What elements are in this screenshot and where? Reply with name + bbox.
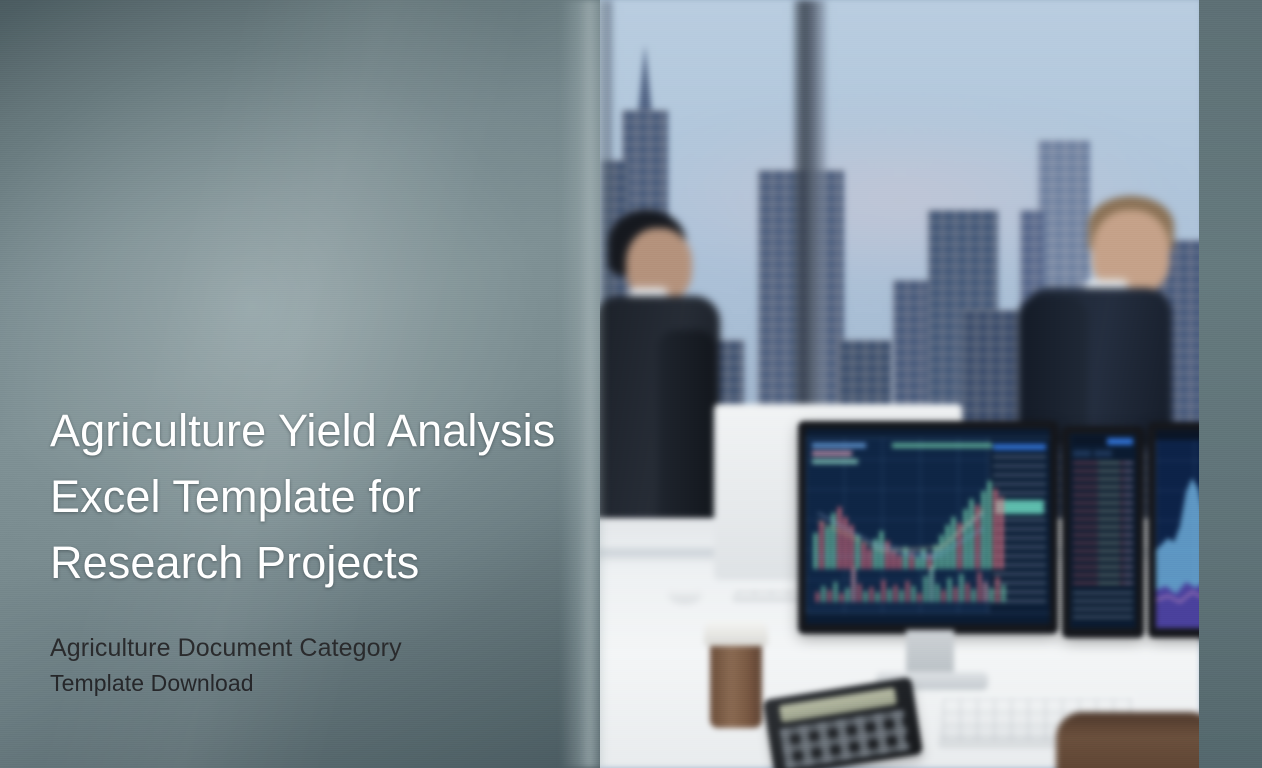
subtitle-group: Agriculture Document Category Template D… <box>50 630 610 701</box>
candlestick-chart <box>812 469 984 569</box>
area-chart-screen <box>1156 430 1200 628</box>
document-category-label: Agriculture Document Category <box>50 630 610 666</box>
tower-spire-icon <box>638 45 652 115</box>
businessman-right <box>1010 196 1200 436</box>
trading-monitor-primary <box>798 421 1058 634</box>
trendline-overlay <box>812 469 984 569</box>
mouse <box>668 586 702 604</box>
area-series <box>1156 430 1200 628</box>
volume-chart <box>812 556 984 602</box>
coffee-cup <box>710 640 762 728</box>
page-title: Agriculture Yield Analysis Excel Templat… <box>50 398 570 596</box>
trading-screen-primary <box>806 429 1050 624</box>
suit-arm <box>658 330 716 540</box>
office-chair <box>1056 712 1200 768</box>
slide-canvas: Agriculture Yield Analysis Excel Templat… <box>0 0 1262 768</box>
trading-monitor-tertiary <box>1148 422 1200 638</box>
template-download-label: Template Download <box>50 666 610 701</box>
text-block: Agriculture Yield Analysis Excel Templat… <box>50 398 610 701</box>
quote-board-screen <box>1070 434 1136 628</box>
right-color-strip <box>1199 0 1262 768</box>
trading-monitor-secondary <box>1062 426 1144 638</box>
monitor-stand <box>906 630 954 678</box>
coffee-cup-lid <box>704 622 768 646</box>
toolbar <box>806 429 1050 438</box>
status-bar <box>806 613 1050 624</box>
